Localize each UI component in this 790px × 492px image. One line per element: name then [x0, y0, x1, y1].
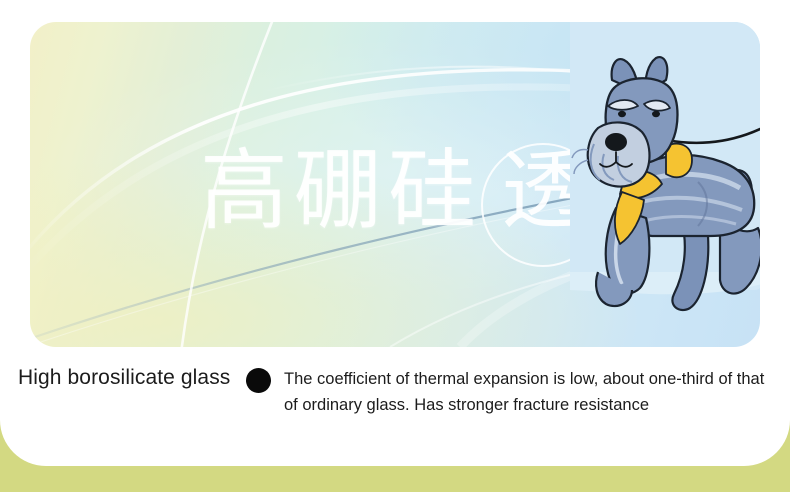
page-panel: 高硼硅 透 [0, 0, 790, 466]
dog-illustration: Ha [570, 22, 760, 347]
caption-row: High borosilicate glass The coefficient … [0, 356, 790, 436]
hero-banner: 高硼硅 透 [30, 22, 760, 347]
caption-title: High borosilicate glass [18, 366, 230, 390]
schnauzer-dog-icon [570, 22, 760, 347]
bullet-dot-icon [246, 368, 271, 393]
caption-body: The coefficient of thermal expansion is … [284, 367, 776, 418]
hero-title: 高硼硅 [200, 147, 482, 235]
